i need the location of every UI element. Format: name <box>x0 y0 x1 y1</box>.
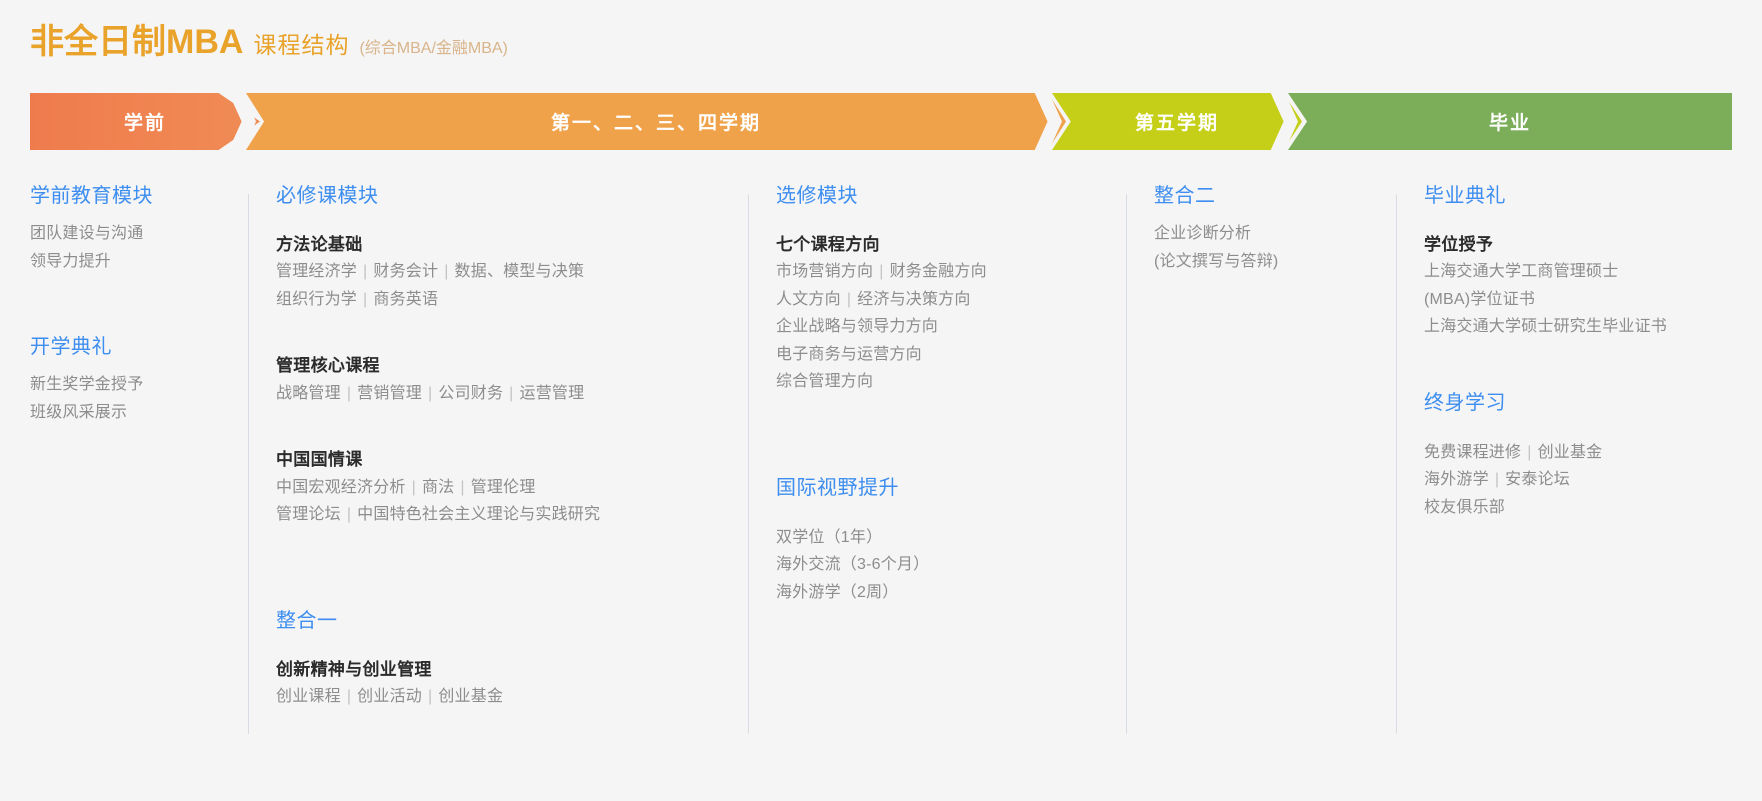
block-pre-study-module: 学前教育模块 团队建设与沟通 领导力提升 <box>30 182 248 275</box>
course-name: 安泰论坛 <box>1505 471 1570 488</box>
timeline-segment-fifth-semester[interactable]: 第五学期 <box>1052 93 1302 150</box>
course-name: 创业活动 <box>357 688 422 705</box>
course-name: 综合管理方向 <box>776 373 873 390</box>
timeline-banner: 学前 第一、二、三、四学期 第五学期 毕业 <box>0 93 1762 150</box>
block-heading: 毕业典礼 <box>1424 182 1762 210</box>
course-separator: | <box>341 506 357 523</box>
course-name: 电子商务与运营方向 <box>776 346 922 363</box>
course-line: 免费课程进修|创业基金 <box>1424 439 1762 467</box>
course-name: 战略管理 <box>276 385 341 402</box>
course-separator: | <box>357 291 373 308</box>
timeline-segment-semesters[interactable]: 第一、二、三、四学期 <box>246 93 1066 150</box>
block-heading: 学前教育模块 <box>30 182 248 210</box>
block-international-vision: 国际视野提升 双学位（1年） 海外交流（3-6个月） 海外游学（2周） <box>776 474 1126 607</box>
group-sub-heading: 学位授予 <box>1424 232 1762 258</box>
course-name: 创业课程 <box>276 688 341 705</box>
block-heading: 整合二 <box>1154 182 1396 210</box>
column-required-courses: 必修课模块 方法论基础 管理经济学|财务会计|数据、模型与决策 组织行为学|商务… <box>248 182 748 742</box>
body-line: 企业诊断分析 <box>1154 220 1396 248</box>
course-name: 营销管理 <box>357 385 422 402</box>
course-name: 免费课程进修 <box>1424 444 1521 461</box>
title-main: 非全日制MBA <box>30 14 243 63</box>
timeline-segment-graduation[interactable]: 毕业 <box>1288 93 1732 150</box>
block-heading: 整合一 <box>276 607 748 635</box>
course-name: 人文方向 <box>776 291 841 308</box>
course-name: 管理经济学 <box>276 263 357 280</box>
course-line: 人文方向|经济与决策方向 <box>776 286 1126 314</box>
timeline-segment-pre-study[interactable]: 学前 <box>30 93 260 150</box>
content-columns: 学前教育模块 团队建设与沟通 领导力提升 开学典礼 新生奖学金授予 班级风采展示… <box>0 182 1762 801</box>
group-management-core: 管理核心课程 战略管理|营销管理|公司财务|运营管理 <box>276 353 748 407</box>
body-line: 上海交通大学硕士研究生毕业证书 <box>1424 313 1762 341</box>
block-heading: 终身学习 <box>1424 389 1762 417</box>
column-elective: 选修模块 七个课程方向 市场营销方向|财务金融方向 人文方向|经济与决策方向 企… <box>748 182 1126 742</box>
course-name: 上海交通大学工商管理硕士 <box>1424 263 1618 280</box>
body-line: 领导力提升 <box>30 248 248 276</box>
course-line: 战略管理|营销管理|公司财务|运营管理 <box>276 380 748 408</box>
course-line: 中国宏观经济分析|商法|管理伦理 <box>276 474 748 502</box>
course-line: 组织行为学|商务英语 <box>276 286 748 314</box>
body-line: 新生奖学金授予 <box>30 371 248 399</box>
block-integration-two: 整合二 企业诊断分析 (论文撰写与答辩) <box>1154 182 1396 275</box>
column-integration-two: 整合二 企业诊断分析 (论文撰写与答辩) <box>1126 182 1396 742</box>
course-separator: | <box>406 479 422 496</box>
block-heading: 国际视野提升 <box>776 474 1126 502</box>
course-line: 管理经济学|财务会计|数据、模型与决策 <box>276 258 748 286</box>
body-line: (MBA)学位证书 <box>1424 286 1762 314</box>
block-graduation-ceremony: 毕业典礼 学位授予 上海交通大学工商管理硕士 (MBA)学位证书 上海交通大学硕… <box>1424 182 1762 341</box>
block-lifelong-learning: 终身学习 免费课程进修|创业基金 海外游学|安泰论坛 校友俱乐部 <box>1424 389 1762 522</box>
course-line: 综合管理方向 <box>776 368 1126 396</box>
course-name: 公司财务 <box>438 385 503 402</box>
title-subtitle: 课程结构 <box>253 26 349 60</box>
course-separator: | <box>341 688 357 705</box>
block-heading: 选修模块 <box>776 182 1126 210</box>
course-name: 财务金融方向 <box>890 263 987 280</box>
block-required-module: 必修课模块 方法论基础 管理经济学|财务会计|数据、模型与决策 组织行为学|商务… <box>276 182 748 529</box>
course-line: 海外游学|安泰论坛 <box>1424 466 1762 494</box>
course-separator: | <box>841 291 857 308</box>
timeline-segment-label: 第一、二、三、四学期 <box>551 108 761 135</box>
group-sub-heading: 管理核心课程 <box>276 353 748 379</box>
course-separator: | <box>454 479 470 496</box>
timeline-segment-label: 第五学期 <box>1135 108 1219 135</box>
course-name: 创业基金 <box>438 688 503 705</box>
course-line: 创业课程|创业活动|创业基金 <box>276 683 748 711</box>
group-sub-heading: 中国国情课 <box>276 447 748 473</box>
group-sub-heading: 七个课程方向 <box>776 232 1126 258</box>
timeline-segment-label: 毕业 <box>1489 108 1531 135</box>
title-note: (综合MBA/金融MBA) <box>359 34 507 58</box>
course-separator: | <box>438 263 454 280</box>
course-name: 组织行为学 <box>276 291 357 308</box>
course-name: 经济与决策方向 <box>857 291 970 308</box>
column-graduation: 毕业典礼 学位授予 上海交通大学工商管理硕士 (MBA)学位证书 上海交通大学硕… <box>1396 182 1762 742</box>
course-name: 数据、模型与决策 <box>455 263 585 280</box>
body-line: (论文撰写与答辩) <box>1154 248 1396 276</box>
column-pre-study: 学前教育模块 团队建设与沟通 领导力提升 开学典礼 新生奖学金授予 班级风采展示 <box>0 182 248 742</box>
course-line: 管理论坛|中国特色社会主义理论与实践研究 <box>276 501 748 529</box>
page-title: 非全日制MBA 课程结构 (综合MBA/金融MBA) <box>30 14 508 63</box>
course-separator: | <box>873 263 889 280</box>
course-name: 管理论坛 <box>276 506 341 523</box>
course-name: 中国特色社会主义理论与实践研究 <box>357 506 600 523</box>
course-line: 校友俱乐部 <box>1424 494 1762 522</box>
body-line: 班级风采展示 <box>30 399 248 427</box>
course-name: 创业基金 <box>1538 444 1603 461</box>
course-name: 管理伦理 <box>471 479 536 496</box>
course-name: 中国宏观经济分析 <box>276 479 406 496</box>
block-heading: 必修课模块 <box>276 182 748 210</box>
course-separator: | <box>503 385 519 402</box>
block-integration-one: 整合一 创新精神与创业管理 创业课程|创业活动|创业基金 <box>276 607 748 711</box>
block-elective-module: 选修模块 七个课程方向 市场营销方向|财务金融方向 人文方向|经济与决策方向 企… <box>776 182 1126 396</box>
course-name: 运营管理 <box>520 385 585 402</box>
group-china-context: 中国国情课 中国宏观经济分析|商法|管理伦理 管理论坛|中国特色社会主义理论与实… <box>276 447 748 528</box>
course-name: 校友俱乐部 <box>1424 499 1505 516</box>
course-separator: | <box>1521 444 1537 461</box>
body-line: 双学位（1年） <box>776 524 1126 552</box>
course-name: 企业战略与领导力方向 <box>776 318 938 335</box>
course-name: 上海交通大学硕士研究生毕业证书 <box>1424 318 1667 335</box>
block-heading: 开学典礼 <box>30 333 248 361</box>
course-name: 商法 <box>422 479 454 496</box>
course-name: 市场营销方向 <box>776 263 873 280</box>
block-opening-ceremony: 开学典礼 新生奖学金授予 班级风采展示 <box>30 333 248 426</box>
course-line: 电子商务与运营方向 <box>776 341 1126 369</box>
course-line: 市场营销方向|财务金融方向 <box>776 258 1126 286</box>
body-line: 团队建设与沟通 <box>30 220 248 248</box>
course-line: 企业战略与领导力方向 <box>776 313 1126 341</box>
course-structure-page: 非全日制MBA 课程结构 (综合MBA/金融MBA) 学前 第一、二、三、四学期… <box>0 0 1762 801</box>
course-name: 海外游学 <box>1424 471 1489 488</box>
course-name: 商务英语 <box>373 291 438 308</box>
group-sub-heading: 方法论基础 <box>276 232 748 258</box>
course-separator: | <box>341 385 357 402</box>
body-line: 海外游学（2周） <box>776 579 1126 607</box>
course-separator: | <box>1489 471 1505 488</box>
course-name: 财务会计 <box>373 263 438 280</box>
course-separator: | <box>357 263 373 280</box>
timeline-segment-label: 学前 <box>124 108 166 135</box>
group-sub-heading: 创新精神与创业管理 <box>276 657 748 683</box>
body-line: 海外交流（3-6个月） <box>776 551 1126 579</box>
course-separator: | <box>422 688 438 705</box>
body-line: 上海交通大学工商管理硕士 <box>1424 258 1762 286</box>
group-methodology: 方法论基础 管理经济学|财务会计|数据、模型与决策 组织行为学|商务英语 <box>276 232 748 313</box>
course-name: (MBA)学位证书 <box>1424 291 1535 308</box>
course-separator: | <box>422 385 438 402</box>
